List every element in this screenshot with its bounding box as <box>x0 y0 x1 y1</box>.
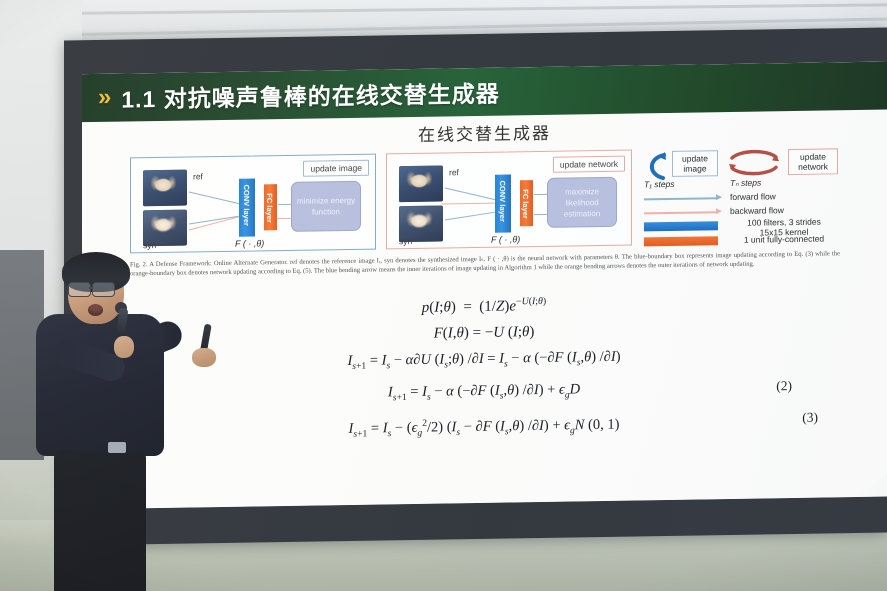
legend-conv-bar-swatch <box>644 221 718 231</box>
flow-line-ref-to-conv <box>445 187 496 200</box>
equation-block: p(I;θ) = (1/Z)e−U(I;θ) F(I,θ) = −U (I;θ)… <box>114 284 854 451</box>
fc-layer-label: FC layer <box>521 189 530 219</box>
flow-line-fc-to-output <box>534 194 547 195</box>
panel-update-image: update image ref syn CONV layer FC layer <box>130 154 376 254</box>
flow-line-ref-to-conv <box>189 192 240 205</box>
equation-number-2: (2) <box>776 373 792 399</box>
flow-line-fc-to-output <box>278 204 291 205</box>
flow-line-fc-to-output-2 <box>534 214 547 215</box>
presenter-belt-detail <box>108 442 126 453</box>
presenter-hand-raised <box>192 348 216 367</box>
presenter-person <box>16 252 188 591</box>
legend-image-steps: T₁ steps <box>644 179 675 189</box>
figure-diagram: update image ref syn CONV layer FC layer <box>130 146 840 257</box>
loop-arrow-network-icon <box>726 149 782 180</box>
maximize-likelihood-box: maximize likelihood estimation <box>547 177 617 228</box>
glasses-right-lens-icon <box>92 282 115 297</box>
conv-layer-label: CONV layer <box>498 181 507 222</box>
fc-layer-block: FC layer <box>264 184 277 230</box>
glasses-left-lens-icon <box>68 282 91 297</box>
backward-flow-arrow-icon <box>644 211 718 214</box>
flow-line-syn-to-conv <box>445 211 497 220</box>
legend-fc-row: 1 unit fully-connected <box>644 234 840 249</box>
legend-forward-flow-row: forward flow <box>644 190 840 205</box>
double-chevron-icon: » <box>98 86 108 110</box>
legend-network-steps: Tₙ steps <box>730 178 761 189</box>
legend-update-image-box: update image <box>672 150 718 177</box>
thumbnail-ref-image <box>399 166 443 203</box>
dog-photo-icon <box>399 166 443 203</box>
legend-forward-flow-label: forward flow <box>730 191 776 202</box>
dog-photo-icon <box>143 170 187 207</box>
legend-backward-flow-label: backward flow <box>730 205 784 216</box>
glasses-bridge-icon <box>89 287 93 289</box>
fc-layer-label: FC layer <box>265 193 274 223</box>
conv-layer-block: CONV layer <box>239 178 255 236</box>
legend-fc-bar-swatch <box>644 236 718 246</box>
figure-legend: update image T₁ steps update network Tₙ … <box>642 146 840 245</box>
equation-number-3: (3) <box>802 404 818 430</box>
slide-title: 1.1 对抗噪声鲁棒的在线交替生成器 <box>121 75 499 115</box>
label-ref: ref <box>449 167 459 177</box>
projection-screen-surface: » 1.1 对抗噪声鲁棒的在线交替生成器 在线交替生成器 update imag… <box>82 62 887 510</box>
label-ref: ref <box>193 171 203 181</box>
lecture-room-photo: » 1.1 对抗噪声鲁棒的在线交替生成器 在线交替生成器 update imag… <box>0 0 887 591</box>
panel-update-network: update network ref syn CONV layer FC lay… <box>386 150 632 250</box>
panel-tag-update-network: update network <box>553 156 625 173</box>
forward-flow-arrowhead-icon <box>716 194 722 200</box>
backward-flow-arrowhead-icon <box>716 208 722 214</box>
conv-layer-block: CONV layer <box>495 174 511 232</box>
minimize-energy-box: minimize energy function <box>291 181 361 232</box>
function-notation: F ( · ,θ) <box>235 238 264 248</box>
slide-header-banner: » 1.1 对抗噪声鲁棒的在线交替生成器 <box>82 62 887 123</box>
legend-update-network-box: update network <box>788 148 838 175</box>
label-syn: syn <box>143 240 156 250</box>
panel-tag-update-image: update image <box>303 160 369 177</box>
thumbnail-ref-image <box>143 170 187 207</box>
presentation-slide: » 1.1 对抗噪声鲁棒的在线交替生成器 在线交替生成器 update imag… <box>82 62 887 510</box>
conv-layer-label: CONV layer <box>242 185 251 226</box>
presenter-legs <box>54 450 146 591</box>
presenter-mouth <box>88 304 103 316</box>
function-notation: F ( · ,θ) <box>491 234 520 244</box>
label-syn: syn <box>399 236 412 246</box>
legend-fc-text: 1 unit fully-connected <box>724 233 844 245</box>
flow-line-backward <box>441 203 497 205</box>
presenter-hand-holding-mic <box>114 336 134 358</box>
loop-arrow-image-icon <box>644 151 670 181</box>
fc-layer-block: FC layer <box>520 180 533 226</box>
presenter-torso <box>36 314 164 456</box>
forward-flow-arrow-icon <box>644 197 718 200</box>
flow-line-output-back <box>277 218 291 219</box>
